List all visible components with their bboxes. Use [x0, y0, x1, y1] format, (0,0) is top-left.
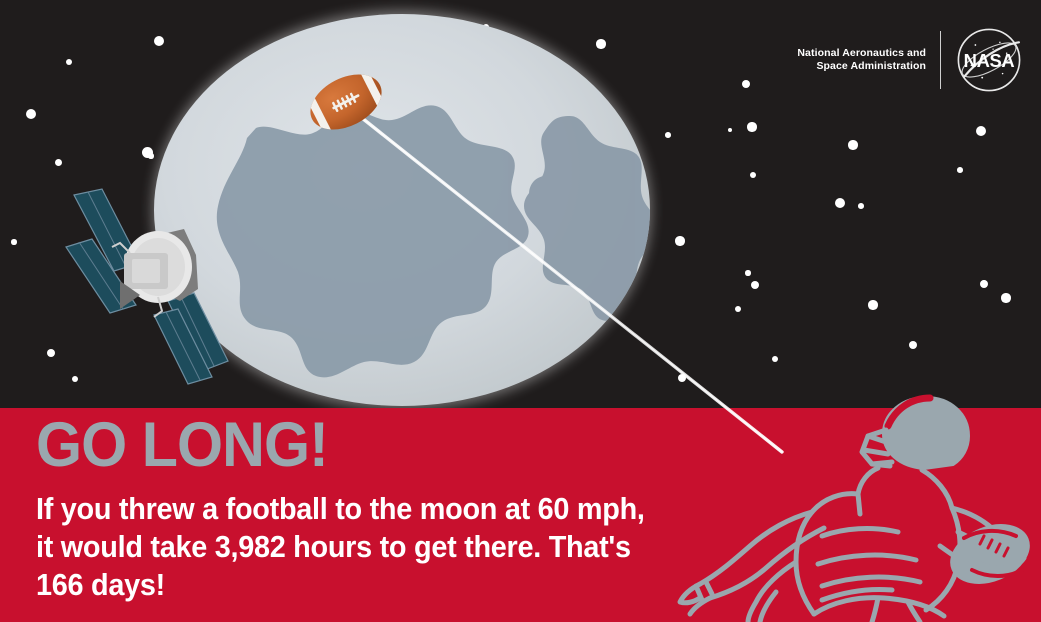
star: [976, 126, 986, 136]
nasa-lockup: National Aeronautics and Space Administr…: [797, 26, 1023, 94]
star: [66, 59, 72, 65]
nasa-insignia-icon: NASA: [955, 26, 1023, 94]
star: [1001, 293, 1010, 302]
star: [735, 306, 742, 313]
star: [957, 167, 963, 173]
star: [728, 128, 733, 133]
red-banner: GO LONG! If you threw a football to the …: [0, 408, 1041, 622]
star: [675, 236, 684, 245]
star: [745, 270, 750, 275]
star: [980, 280, 988, 288]
star: [47, 349, 55, 357]
star: [742, 80, 750, 88]
page-title: GO LONG!: [36, 414, 328, 477]
star: [11, 239, 16, 244]
star: [55, 159, 62, 166]
star: [665, 132, 671, 138]
satellite-spacecraft: [62, 185, 232, 385]
svg-text:NASA: NASA: [964, 50, 1015, 71]
lockup-divider: [940, 31, 941, 89]
nasa-infographic-poster: National Aeronautics and Space Administr…: [0, 0, 1041, 622]
star: [848, 140, 857, 149]
star: [747, 122, 756, 131]
star: [868, 300, 877, 309]
star: [751, 281, 759, 289]
star: [750, 172, 757, 179]
star: [678, 374, 686, 382]
body-text: If you threw a football to the moon at 6…: [36, 490, 650, 604]
star: [26, 109, 36, 119]
nasa-wordmark: National Aeronautics and Space Administr…: [797, 47, 926, 73]
football-icon: [300, 62, 392, 142]
star: [835, 198, 845, 208]
star: [858, 203, 864, 209]
star: [909, 341, 917, 349]
star: [772, 356, 779, 363]
